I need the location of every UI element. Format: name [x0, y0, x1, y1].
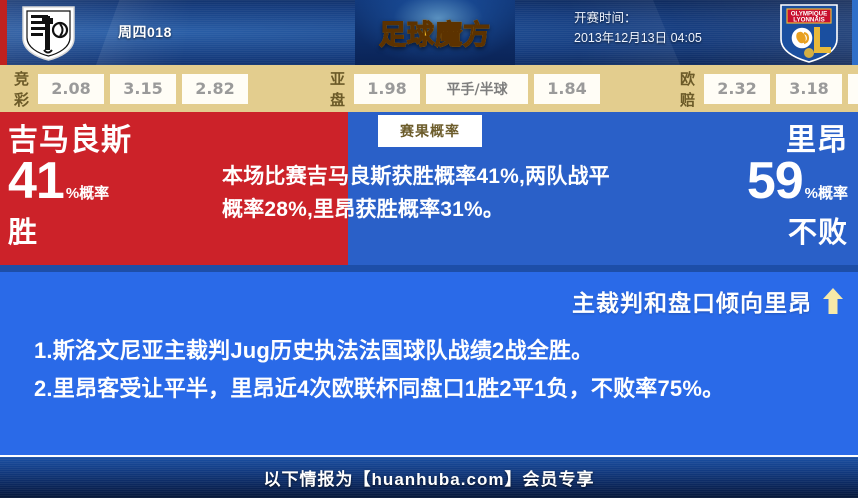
odds-cell[interactable]: 2.82: [182, 74, 248, 104]
odds-cell[interactable]: 1.84: [534, 74, 600, 104]
insight-panel: 主裁判和盘口倾向里昂 1.斯洛文尼亚主裁判Jug历史执法法国球队战绩2战全胜。 …: [0, 272, 858, 457]
probability-summary: 本场比赛吉马良斯获胜概率41%,两队战平概率28%,里昂获胜概率31%。: [222, 160, 617, 226]
away-percent-suffix: %概率: [805, 171, 848, 217]
odds-cell[interactable]: 3.15: [110, 74, 176, 104]
probability-panel: 赛果概率 吉马良斯 41 %概率 胜 本场比赛吉马良斯获胜概率41%,两队战平概…: [0, 112, 858, 265]
odds-cell[interactable]: 3.18: [776, 74, 842, 104]
odds-cell[interactable]: 2.08: [38, 74, 104, 104]
home-outcome-label: 胜: [8, 217, 188, 250]
odds-cell[interactable]: 1.98: [354, 74, 420, 104]
away-outcome-label: 不败: [638, 217, 848, 250]
insight-headline: 主裁判和盘口倾向里昂: [572, 284, 812, 318]
odds-group-label: 竞彩: [14, 68, 30, 110]
odds-bar: 竞彩 2.08 3.15 2.82 亚盘 1.98 平手/半球 1.84 欧赔 …: [0, 65, 858, 112]
away-team-name: 里昂: [638, 124, 848, 158]
insight-list: 1.斯洛文尼亚主裁判Jug历史执法法国球队战绩2战全胜。 2.里昂客受让平半，里…: [34, 332, 824, 408]
kickoff-label: 开赛时间：: [574, 8, 770, 28]
odds-group-jingcai: 竞彩 2.08 3.15 2.82: [14, 68, 254, 110]
header-right-blue-stripe: [852, 0, 858, 65]
insight-item: 2.里昂客受让平半，里昂近4次欧联杯同盘口1胜2平1负，不败率75%。: [34, 370, 824, 408]
home-team-crest-icon: [20, 4, 77, 62]
odds-group-oupei: 欧赔 2.32 3.18 2.95: [680, 68, 858, 110]
arrow-up-icon: [822, 287, 844, 315]
away-percent-row: 59 %概率: [638, 158, 848, 217]
home-percent-suffix: %概率: [66, 171, 109, 217]
brand-logo-text: 足球魔方: [379, 13, 491, 52]
kickoff-time-block: 开赛时间： 2013年12月13日 04:05: [574, 8, 770, 48]
tab-result-probability[interactable]: 赛果概率: [378, 115, 482, 147]
header-bar: 周四018 足球魔方 开赛时间： 2013年12月13日 04:05 OLYMP…: [0, 0, 858, 65]
home-percent-value: 41: [8, 158, 64, 204]
match-number: 周四018: [118, 22, 172, 42]
odds-group-yapan: 亚盘 1.98 平手/半球 1.84: [330, 68, 606, 110]
away-percent-value: 59: [747, 158, 803, 204]
home-probability-block: 吉马良斯 41 %概率 胜: [8, 124, 188, 250]
odds-group-label: 欧赔: [680, 68, 696, 110]
odds-cell[interactable]: 2.32: [704, 74, 770, 104]
svg-text:LYONNAIS: LYONNAIS: [793, 16, 824, 23]
tab-label: 赛果概率: [400, 121, 460, 141]
odds-cell-handicap[interactable]: 平手/半球: [426, 74, 528, 104]
insight-item: 1.斯洛文尼亚主裁判Jug历史执法法国球队战绩2战全胜。: [34, 332, 824, 370]
footer-notice: 以下情报为【huanhuba.com】会员专享: [264, 465, 595, 490]
home-percent-row: 41 %概率: [8, 158, 188, 217]
insight-headline-row: 主裁判和盘口倾向里昂: [572, 284, 844, 318]
away-team-crest-icon: OLYMPIQUE LYONNAIS: [778, 3, 840, 63]
away-probability-block: 里昂 59 %概率 不败: [638, 124, 848, 250]
infographic-root: 周四018 足球魔方 开赛时间： 2013年12月13日 04:05 OLYMP…: [0, 0, 858, 498]
header-left-red-stripe: [0, 0, 7, 65]
odds-group-label: 亚盘: [330, 68, 346, 110]
footer-bar: 以下情报为【huanhuba.com】会员专享: [0, 455, 858, 498]
odds-cell[interactable]: 2.95: [848, 74, 858, 104]
brand-logo: 足球魔方: [355, 0, 515, 65]
kickoff-value: 2013年12月13日 04:05: [574, 28, 770, 48]
